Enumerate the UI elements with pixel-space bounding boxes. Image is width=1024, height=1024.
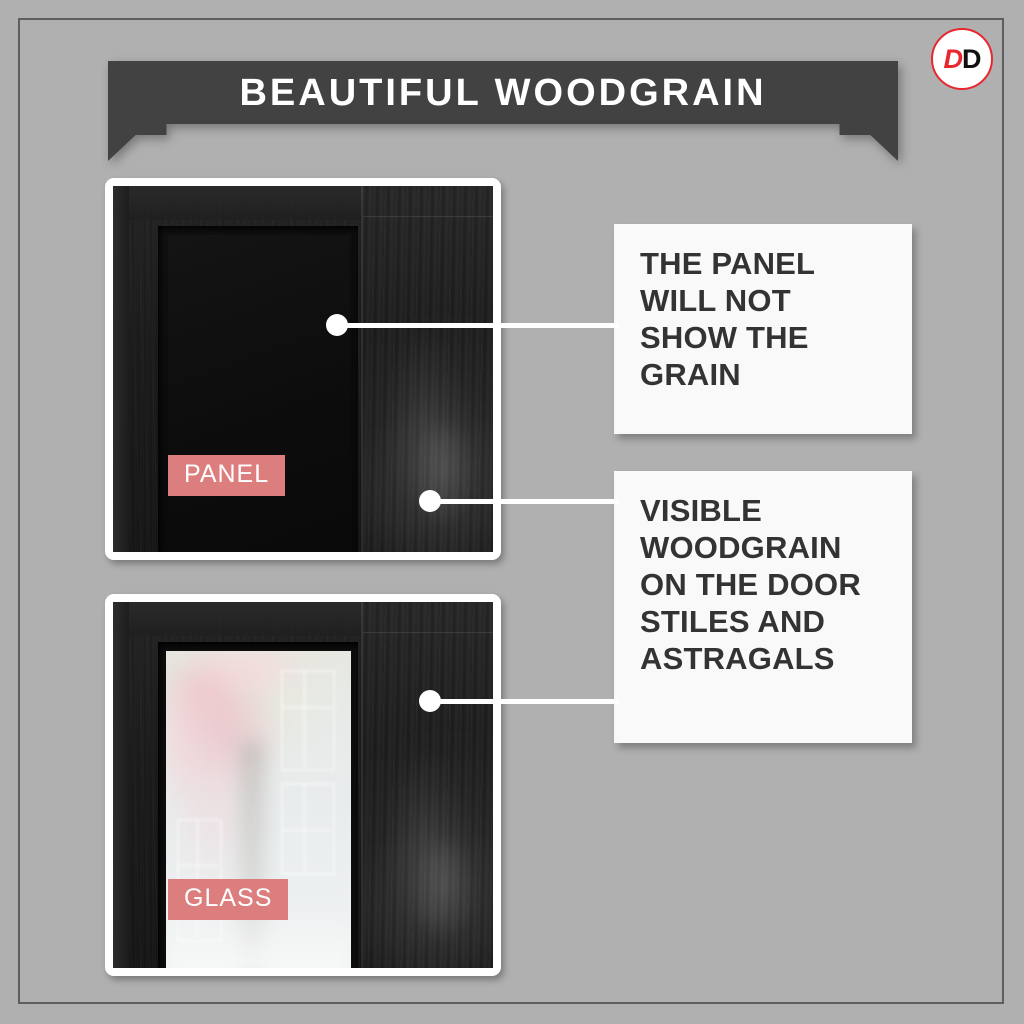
header-ribbon: BEAUTIFUL WOODGRAIN — [108, 61, 898, 161]
connector-line-panel — [337, 323, 619, 328]
door-right-stile-grain — [363, 602, 493, 968]
callout-woodgrain-text: VISIBLE WOODGRAIN ON THE DOOR STILES AND… — [614, 471, 912, 743]
glass-door-photo: GLASS — [113, 602, 493, 968]
callout-panel-text: THE PANEL WILL NOT SHOW THE GRAIN — [614, 224, 912, 434]
frost-overlay — [166, 651, 351, 968]
callout-line: ON THE DOOR — [640, 567, 886, 604]
infographic-canvas: DD BEAUTIFUL WOODGRAIN PANEL — [0, 0, 1024, 1024]
callout-line: GRAIN — [640, 357, 886, 394]
logo-letter-red: D — [944, 44, 963, 74]
brand-logo: DD — [931, 28, 993, 90]
stile-edge-highlight — [361, 602, 363, 968]
connector-dot-stile-bottom — [419, 690, 441, 712]
callout-line: STILES AND — [640, 604, 886, 641]
rail-joint-line — [363, 632, 493, 633]
connector-dot-panel — [326, 314, 348, 336]
page-title: BEAUTIFUL WOODGRAIN — [108, 61, 898, 125]
panel-tag: PANEL — [168, 455, 285, 496]
rail-joint-line — [363, 216, 493, 217]
callout-line: WOODGRAIN — [640, 530, 886, 567]
glass-tag: GLASS — [168, 879, 288, 920]
door-left-stile — [113, 186, 129, 552]
stile-edge-highlight — [361, 186, 363, 552]
callout-line: SHOW THE — [640, 320, 886, 357]
door-flush-panel — [158, 226, 358, 552]
glass-door-card: GLASS — [105, 594, 501, 976]
callout-line: VISIBLE — [640, 493, 886, 530]
callout-line: ASTRAGALS — [640, 641, 886, 678]
callout-line: WILL NOT — [640, 283, 886, 320]
connector-dot-stile-top — [419, 490, 441, 512]
connector-line-stile-top — [430, 499, 619, 504]
door-left-stile — [113, 602, 129, 968]
logo-text: DD — [944, 46, 981, 73]
frosted-glass-pane — [166, 651, 351, 968]
logo-letter-black: D — [962, 44, 981, 74]
callout-line: THE PANEL — [640, 246, 886, 283]
connector-line-stile-bottom — [430, 699, 619, 704]
